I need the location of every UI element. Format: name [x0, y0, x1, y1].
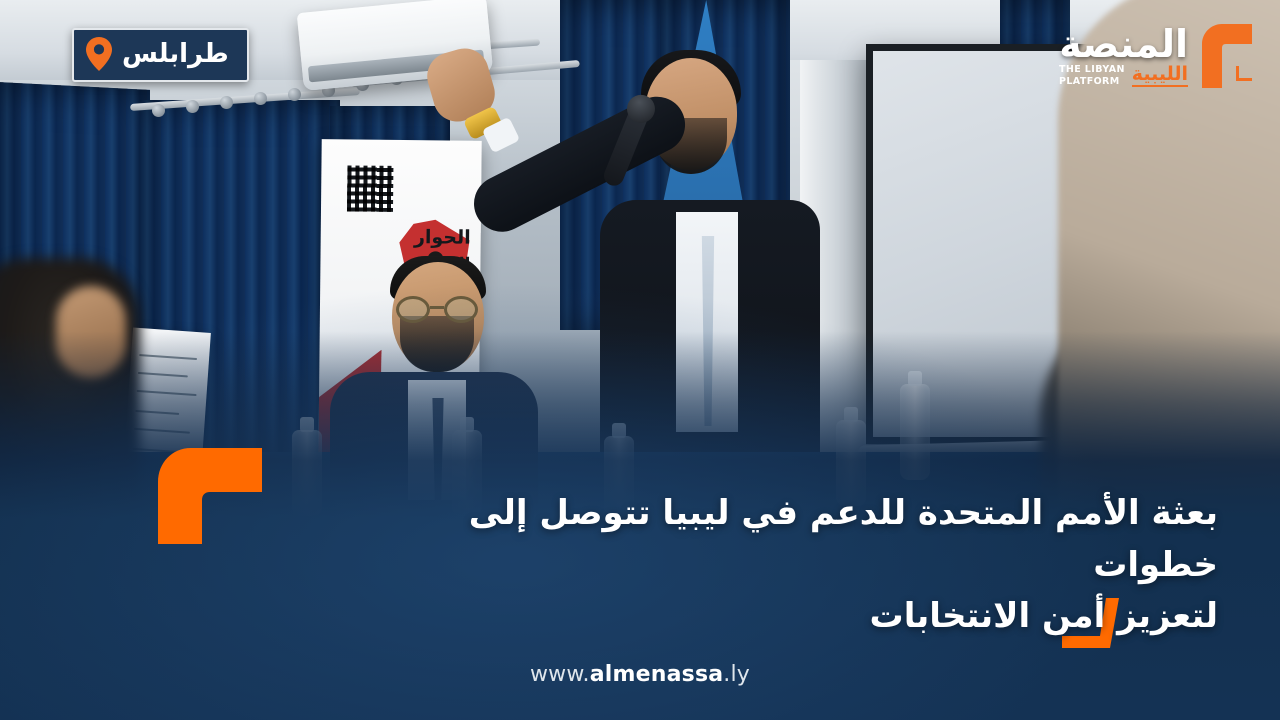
- logo-english-line2: PLATFORM: [1059, 76, 1120, 87]
- map-pin-icon: [86, 37, 112, 71]
- footer-website-url[interactable]: www.almenassa.ly: [0, 662, 1280, 687]
- logo-arabic-primary: المنصة: [1059, 26, 1188, 62]
- url-tld: .ly: [723, 662, 750, 687]
- headline-line-1: بعثة الأمم المتحدة للدعم في ليبيا تتوصل …: [358, 488, 1218, 591]
- logo-english-line1: THE LIBYAN: [1059, 64, 1125, 75]
- url-name: almenassa: [590, 662, 724, 687]
- logo-arabic-secondary: الليبية: [1132, 65, 1188, 87]
- url-prefix: www.: [530, 662, 590, 687]
- logo-subline: THE LIBYAN PLATFORM الليبية: [1059, 64, 1188, 88]
- location-badge[interactable]: طرابلس: [72, 28, 249, 82]
- decor-bracket-large-icon: [158, 448, 262, 544]
- brand-logo[interactable]: المنصة THE LIBYAN PLATFORM الليبية: [1059, 20, 1258, 88]
- logo-english-text: THE LIBYAN PLATFORM: [1059, 64, 1125, 88]
- location-label: طرابلس: [122, 41, 229, 67]
- logo-bracket-icon: [1196, 22, 1258, 88]
- news-card: الحوار الهيكل: [0, 0, 1280, 720]
- headline-line-2: لتعزيز أمن الانتخابات: [358, 591, 1218, 643]
- headline: بعثة الأمم المتحدة للدعم في ليبيا تتوصل …: [358, 488, 1218, 643]
- logo-wordmark: المنصة THE LIBYAN PLATFORM الليبية: [1059, 20, 1188, 88]
